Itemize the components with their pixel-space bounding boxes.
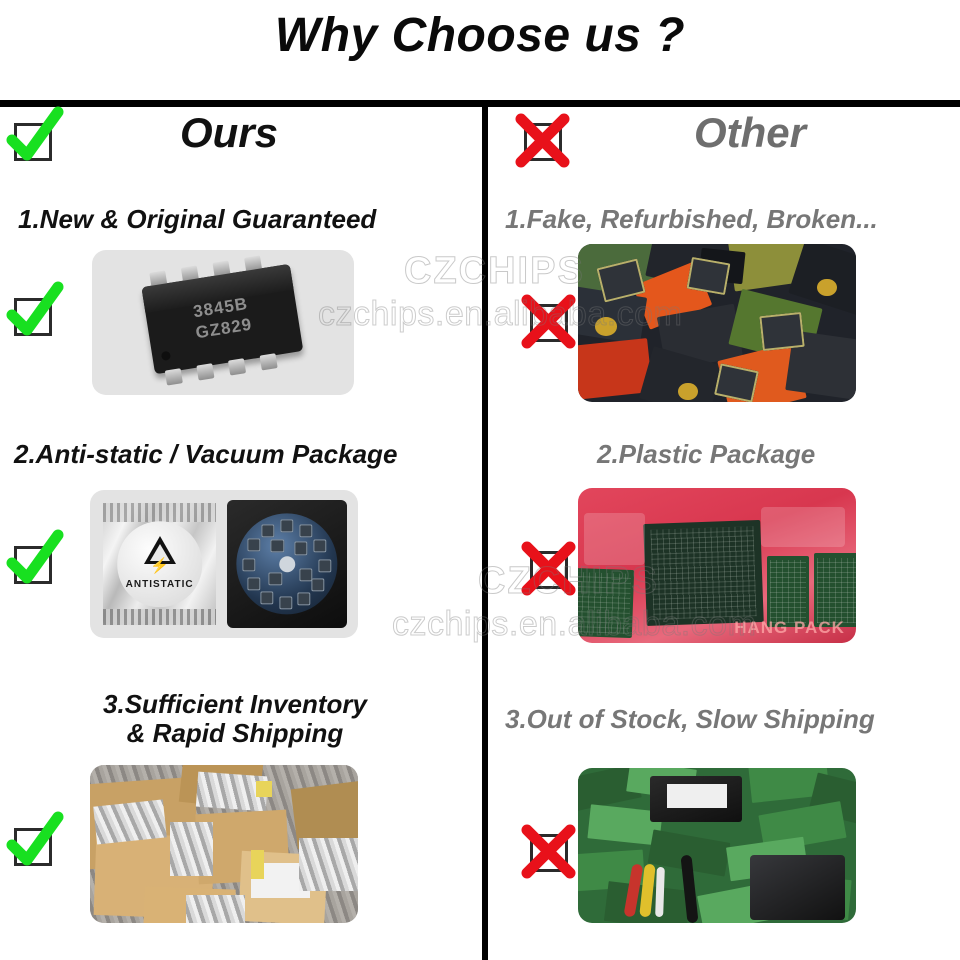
antistatic-label: ANTISTATIC <box>103 579 216 590</box>
horizontal-divider <box>0 100 960 107</box>
scrap-chips-photo <box>578 244 856 402</box>
caption-ours-3: 3.Sufficient Inventory & Rapid Shipping <box>0 690 470 748</box>
check-mark-icon-row-3 <box>8 822 56 870</box>
component-reel <box>236 513 337 614</box>
cross-mark-icon-row-1 <box>524 298 572 346</box>
cross-mark-icon-row-2 <box>524 545 572 593</box>
reel-tray <box>227 500 348 627</box>
bag-print-text: HANG PACK <box>734 618 845 638</box>
black-module <box>650 776 742 823</box>
caption-ours-2: 2.Anti-static / Vacuum Package <box>14 440 474 469</box>
antistatic-bag: ⚡ ANTISTATIC <box>103 503 216 624</box>
chip-body: 3845B GZ829 <box>141 263 303 373</box>
new-original-chip-photo: 3845B GZ829 <box>92 250 354 395</box>
caption-other-2: 2.Plastic Package <box>597 440 957 469</box>
column-header-ours: Ours <box>0 107 482 175</box>
inventory-boxes-photo <box>90 765 358 923</box>
sop8-chip-graphic: 3845B GZ829 <box>141 263 304 381</box>
why-choose-us-comparison: Why Choose us ? Ours Other 1.New & Origi… <box>0 0 960 960</box>
lightning-bolt-icon: ⚡ <box>150 559 169 574</box>
plastic-bag-pcb-photo: HANG PACK <box>578 488 856 643</box>
pink-bag-background: HANG PACK <box>578 488 856 643</box>
check-mark-icon-row-1 <box>8 292 56 340</box>
warehouse-boxes <box>90 765 358 923</box>
chip-pin1-dot <box>161 350 171 360</box>
black-pad <box>750 855 845 920</box>
scrap-pile <box>578 244 856 402</box>
antistatic-package-photo: ⚡ ANTISTATIC <box>90 490 358 638</box>
caption-ours-1: 1.New & Original Guaranteed <box>18 205 468 234</box>
cross-mark-icon-row-3 <box>524 828 572 876</box>
column-header-other: Other <box>488 107 960 175</box>
caption-other-1: 1.Fake, Refurbished, Broken... <box>505 205 955 234</box>
check-mark-icon-row-2 <box>8 540 56 588</box>
chip-marking: 3845B GZ829 <box>145 285 300 350</box>
vertical-divider <box>482 107 488 960</box>
page-title: Why Choose us ? <box>0 8 960 63</box>
module-label <box>667 784 728 808</box>
reel-hub <box>279 556 295 572</box>
column-title-other: Other <box>514 109 960 157</box>
column-title-ours: Ours <box>0 109 470 157</box>
green-pcb-pile <box>578 768 856 923</box>
pcb-scrap-photo <box>578 768 856 923</box>
caption-other-3: 3.Out of Stock, Slow Shipping <box>505 705 960 734</box>
